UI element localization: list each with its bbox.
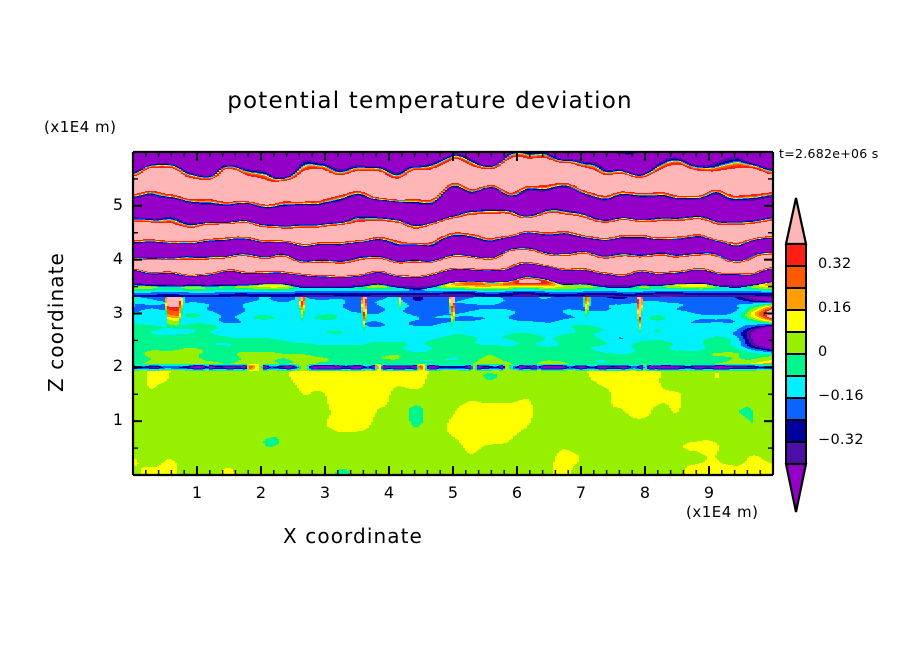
y-axis-title: Z coordinate: [44, 202, 68, 442]
x-tick-label: 7: [559, 483, 603, 502]
figure-canvas: potential temperature deviation (x1E4 m)…: [0, 0, 904, 654]
colorbar-tick-label: 0.16: [818, 300, 852, 316]
x-tick-label: 8: [623, 483, 667, 502]
x-axis-units-label: (x1E4 m): [686, 503, 759, 521]
x-tick-label: 6: [495, 483, 539, 502]
y-tick-label: 3: [95, 303, 123, 322]
x-tick-label: 9: [687, 483, 731, 502]
colorbar: [778, 196, 818, 526]
y-tick-label: 1: [95, 410, 123, 429]
x-tick-label: 4: [367, 483, 411, 502]
x-tick-label: 2: [239, 483, 283, 502]
x-axis-title: X coordinate: [0, 524, 706, 548]
colorbar-tick-label: −0.16: [818, 388, 864, 404]
y-tick-label: 2: [95, 356, 123, 375]
page-title: potential temperature deviation: [0, 88, 860, 114]
y-tick-label: 5: [95, 195, 123, 214]
time-annotation: t=2.682e+06 s: [779, 146, 879, 161]
colorbar-tick-label: 0.32: [818, 256, 852, 272]
y-axis-units-label: (x1E4 m): [44, 118, 117, 136]
x-tick-label: 1: [175, 483, 219, 502]
x-tick-label: 3: [303, 483, 347, 502]
colorbar-tick-label: −0.32: [818, 432, 864, 448]
y-tick-label: 4: [95, 249, 123, 268]
axis-frame: [126, 145, 786, 490]
x-tick-label: 5: [431, 483, 475, 502]
colorbar-tick-label: 0: [818, 344, 828, 360]
